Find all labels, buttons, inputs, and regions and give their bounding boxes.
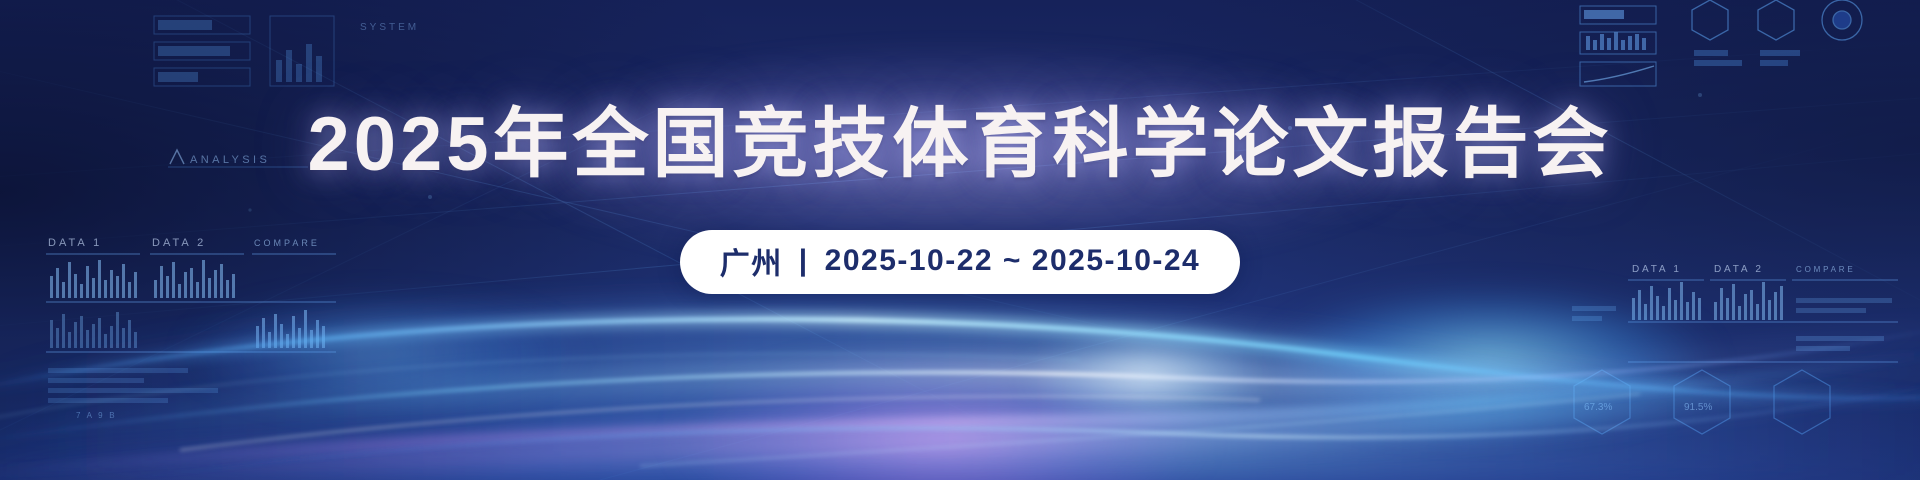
event-date-range: 2025-10-22 ~ 2025-10-24: [825, 244, 1201, 278]
event-date-location-pill: 广州 | 2025-10-22 ~ 2025-10-24: [680, 230, 1241, 294]
event-city: 广州: [720, 239, 783, 283]
banner-title: 2025年全国竞技体育科学论文报告会: [307, 104, 1612, 186]
pill-separator: |: [799, 244, 809, 278]
event-banner: SYSTEM ANALYSIS DATA 1 DATA 2 COMPARE: [0, 0, 1920, 480]
banner-content: 2025年全国竞技体育科学论文报告会 广州 | 2025-10-22 ~ 202…: [0, 0, 1920, 480]
